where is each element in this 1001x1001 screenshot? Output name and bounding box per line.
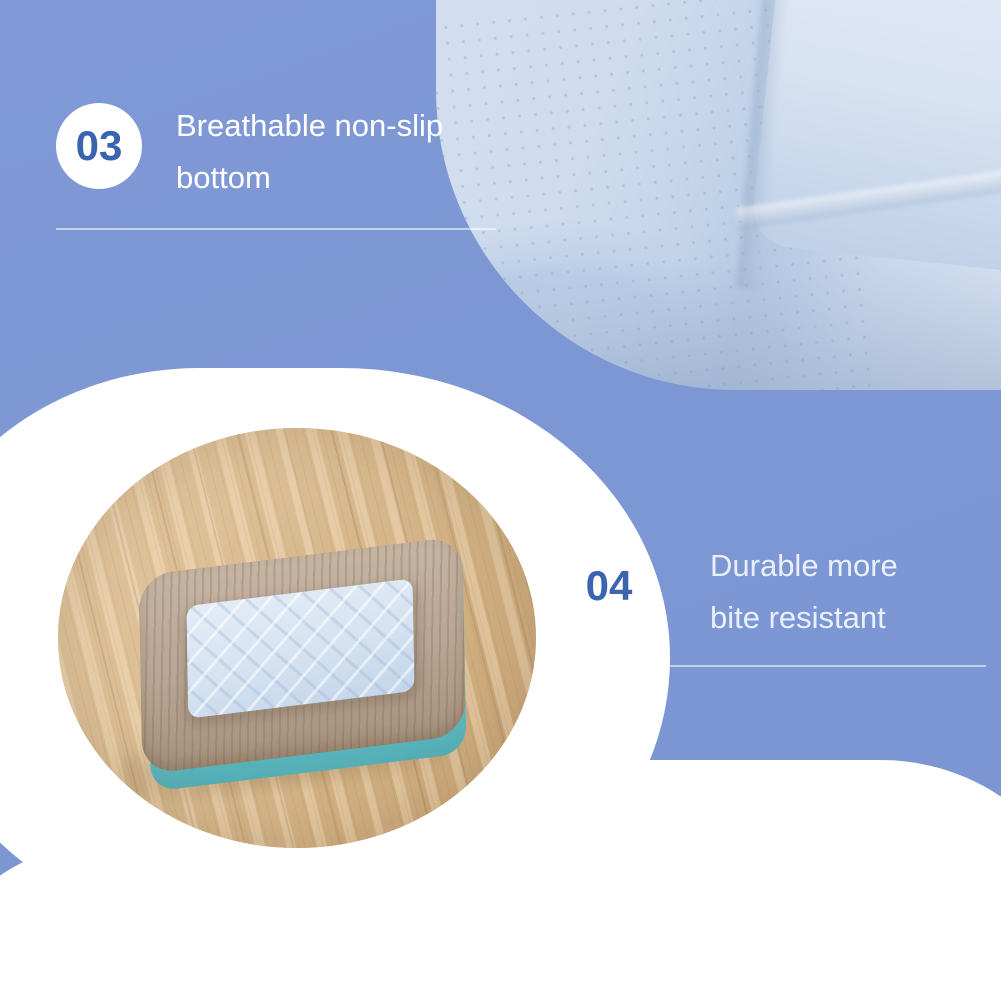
pet-bed-on-wood-floor-photo: [58, 428, 536, 848]
feature-04-line2: bite resistant: [710, 592, 1001, 644]
feature-03-line1: Breathable non-slip: [176, 100, 576, 152]
feature-04-line1: Durable more: [710, 540, 1001, 592]
feature-03-line2: bottom: [176, 152, 576, 204]
photo-bottom-shade: [436, 260, 1001, 390]
feature-badge-03-number: 03: [76, 122, 123, 170]
mat-fold-panel: [750, 0, 1001, 275]
feature-divider-03: [56, 228, 496, 230]
feature-badge-04: 04: [566, 543, 652, 629]
promo-image-root: 03 Breathable non-slip bottom 04 Durable…: [0, 0, 1001, 1001]
feature-badge-04-number: 04: [586, 562, 633, 610]
feature-text-04: Durable more bite resistant: [710, 540, 1001, 644]
feature-badge-03: 03: [56, 103, 142, 189]
white-bottom-band: [0, 939, 1001, 1001]
photo-vignette: [58, 428, 536, 848]
feature-divider-04: [566, 665, 986, 667]
feature-text-03: Breathable non-slip bottom: [176, 100, 576, 204]
